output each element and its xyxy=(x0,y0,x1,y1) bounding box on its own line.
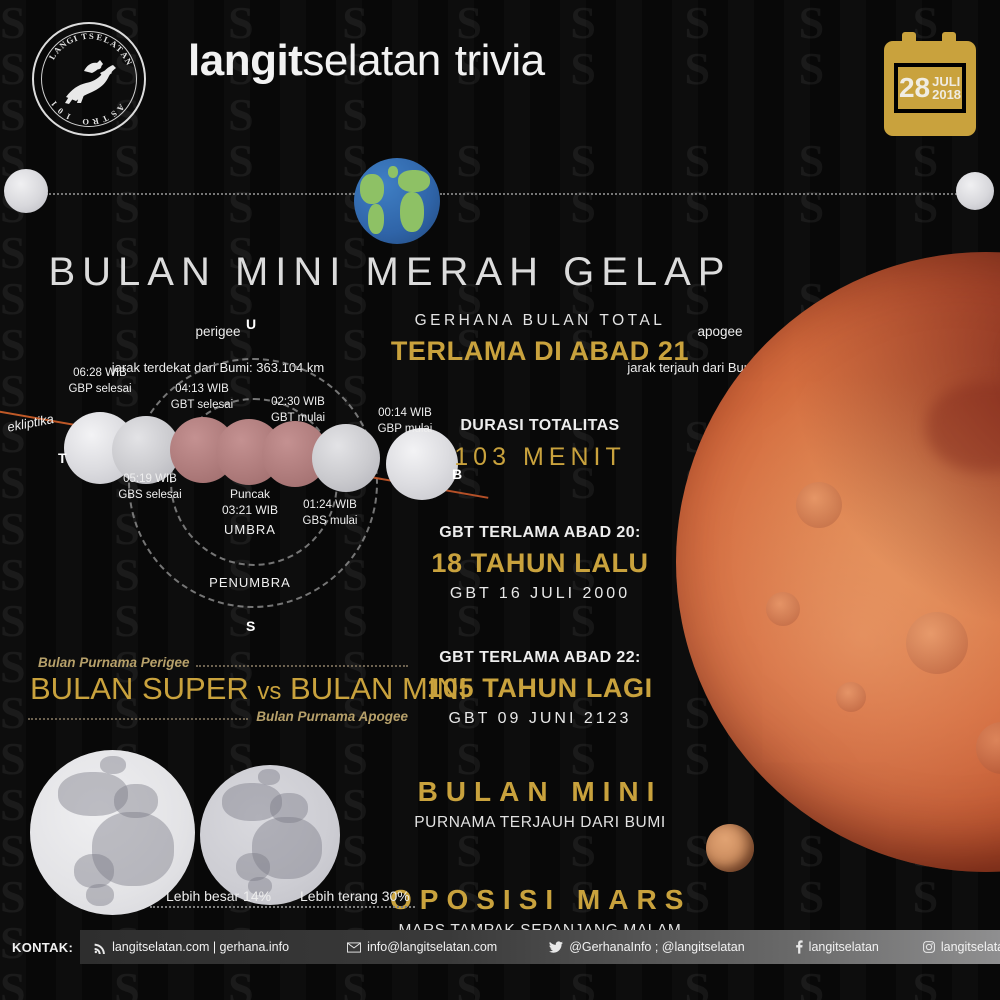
perigee-note: Bulan Purnama Perigee xyxy=(38,655,190,670)
calendar-year: 2018 xyxy=(932,88,961,101)
footer-item-label: info@langitselatan.com xyxy=(367,940,497,954)
century22-date: GBT 09 JUNI 2123 xyxy=(390,710,690,728)
kontak-label: KONTAK: xyxy=(0,940,73,955)
mini-moon-illustration xyxy=(200,765,340,905)
heading-left: BULAN SUPER xyxy=(30,671,249,706)
footer-item-label: @GerhanaInfo ; @langitselatan xyxy=(569,940,744,954)
century20-label: GBT TERLAMA ABAD 20: xyxy=(390,524,690,542)
logo-ring-char: R xyxy=(92,116,100,127)
peak-word: Puncak xyxy=(190,486,310,502)
facebook-icon xyxy=(795,940,803,954)
orbit-distance-band: perigee jarak terdekat dari Bumi: 363.10… xyxy=(0,160,1000,250)
umbra-label: UMBRA xyxy=(190,522,310,537)
brand-bold: langit xyxy=(188,36,302,85)
brighter-percentage-label: Lebih terang 30% xyxy=(300,888,410,904)
penumbra-label: PENUMBRA xyxy=(175,575,325,590)
heading-vs: vs xyxy=(257,678,281,705)
blood-moon-icon xyxy=(676,252,1000,872)
rss-icon xyxy=(93,941,106,954)
twitter-icon xyxy=(549,941,563,953)
header: LANGITSELATAN ASTRO 101 langitselatantri… xyxy=(0,0,1000,150)
logo-ring-char: O xyxy=(82,117,89,127)
bigger-percentage-label: Lebih besar 14% xyxy=(166,888,271,904)
eclipse-peak-label: Puncak 03:21 WIB xyxy=(190,486,310,518)
footer-item-label: langitselatan xyxy=(809,940,879,954)
mini-moon-title: BULAN MINI xyxy=(390,776,690,808)
century22-label: GBT TERLAMA ABAD 22: xyxy=(390,649,690,667)
brand-light: selatan xyxy=(302,36,440,85)
logo-ring-char: T xyxy=(101,113,110,124)
duration-label: DURASI TOTALITAS xyxy=(390,417,690,435)
footer-item-facebook[interactable]: langitselatan xyxy=(795,940,879,954)
horse-rider-seal-icon xyxy=(56,51,122,107)
phase-time: 06:28 WIB xyxy=(20,366,180,382)
footer-contact-bar: KONTAK: langitselatan.com | gerhana.info… xyxy=(0,930,1000,964)
mars-opposition-title: OPOSISI MARS xyxy=(390,884,690,916)
brand-trivia: trivia xyxy=(455,36,545,85)
page-title: langitselatantrivia xyxy=(188,36,545,86)
peak-time: 03:21 WIB xyxy=(190,502,310,518)
total-eclipse-kicker: GERHANA BULAN TOTAL xyxy=(390,312,690,330)
footer-item-twitter[interactable]: @GerhanaInfo ; @langitselatan xyxy=(549,940,744,954)
infographic-title: BULAN MINI MERAH GELAP xyxy=(0,250,780,295)
logo-ring-char: 0 xyxy=(55,106,65,116)
mars-planet-icon xyxy=(706,824,754,872)
comparison-divider xyxy=(150,906,415,908)
direction-mark-t: T xyxy=(58,450,67,466)
calendar-icon: 28 JULI 2018 xyxy=(884,32,976,136)
envelope-icon xyxy=(347,942,361,953)
logo-seal: LANGITSELATAN ASTRO 101 xyxy=(32,22,146,136)
direction-mark-s: S xyxy=(246,618,255,634)
super-vs-mini-title: BULAN SUPER vs BULAN MINI xyxy=(30,671,410,707)
moon-icon xyxy=(4,169,48,213)
calendar-screen: 28 JULI 2018 xyxy=(894,63,966,113)
footer-item-label: langitselatanmedia xyxy=(941,940,1000,954)
direction-mark-u: U xyxy=(246,316,256,332)
apogee-note: Bulan Purnama Apogee xyxy=(256,709,408,724)
divider-bottom xyxy=(28,718,248,720)
duration-value: 103 MENIT xyxy=(390,443,690,472)
perigee-dotted-line xyxy=(46,193,366,195)
facts-column: GERHANA BULAN TOTAL TERLAMA DI ABAD 21 D… xyxy=(390,312,690,940)
divider-top xyxy=(196,665,408,667)
super-vs-mini-heading: Bulan Purnama Perigee BULAN SUPER vs BUL… xyxy=(20,655,420,735)
footer-item-website[interactable]: langitselatan.com | gerhana.info xyxy=(93,940,289,954)
calendar-day: 28 xyxy=(899,74,930,102)
logo-ring-char: S xyxy=(109,109,119,120)
footer-item-email[interactable]: info@langitselatan.com xyxy=(347,940,497,954)
moon-icon xyxy=(956,172,994,210)
footer-item-label: langitselatan.com | gerhana.info xyxy=(112,940,289,954)
earth-globe-icon xyxy=(354,158,440,244)
apogee-dotted-line xyxy=(440,193,960,195)
calendar-body: 28 JULI 2018 xyxy=(884,41,976,136)
mini-moon-subtitle: PURNAMA TERJAUH DARI BUMI xyxy=(390,814,690,832)
footer-item-instagram[interactable]: langitselatanmedia xyxy=(923,940,1000,954)
century20-date: GBT 16 JULI 2000 xyxy=(390,585,690,603)
century20-value: 18 TAHUN LALU xyxy=(390,548,690,579)
logo-ring-char: 1 xyxy=(64,111,72,122)
heading-right: BULAN MINI xyxy=(290,671,467,706)
calendar-month-year: JULI 2018 xyxy=(932,75,961,101)
instagram-icon xyxy=(923,941,935,953)
total-eclipse-headline: TERLAMA DI ABAD 21 xyxy=(390,336,690,367)
